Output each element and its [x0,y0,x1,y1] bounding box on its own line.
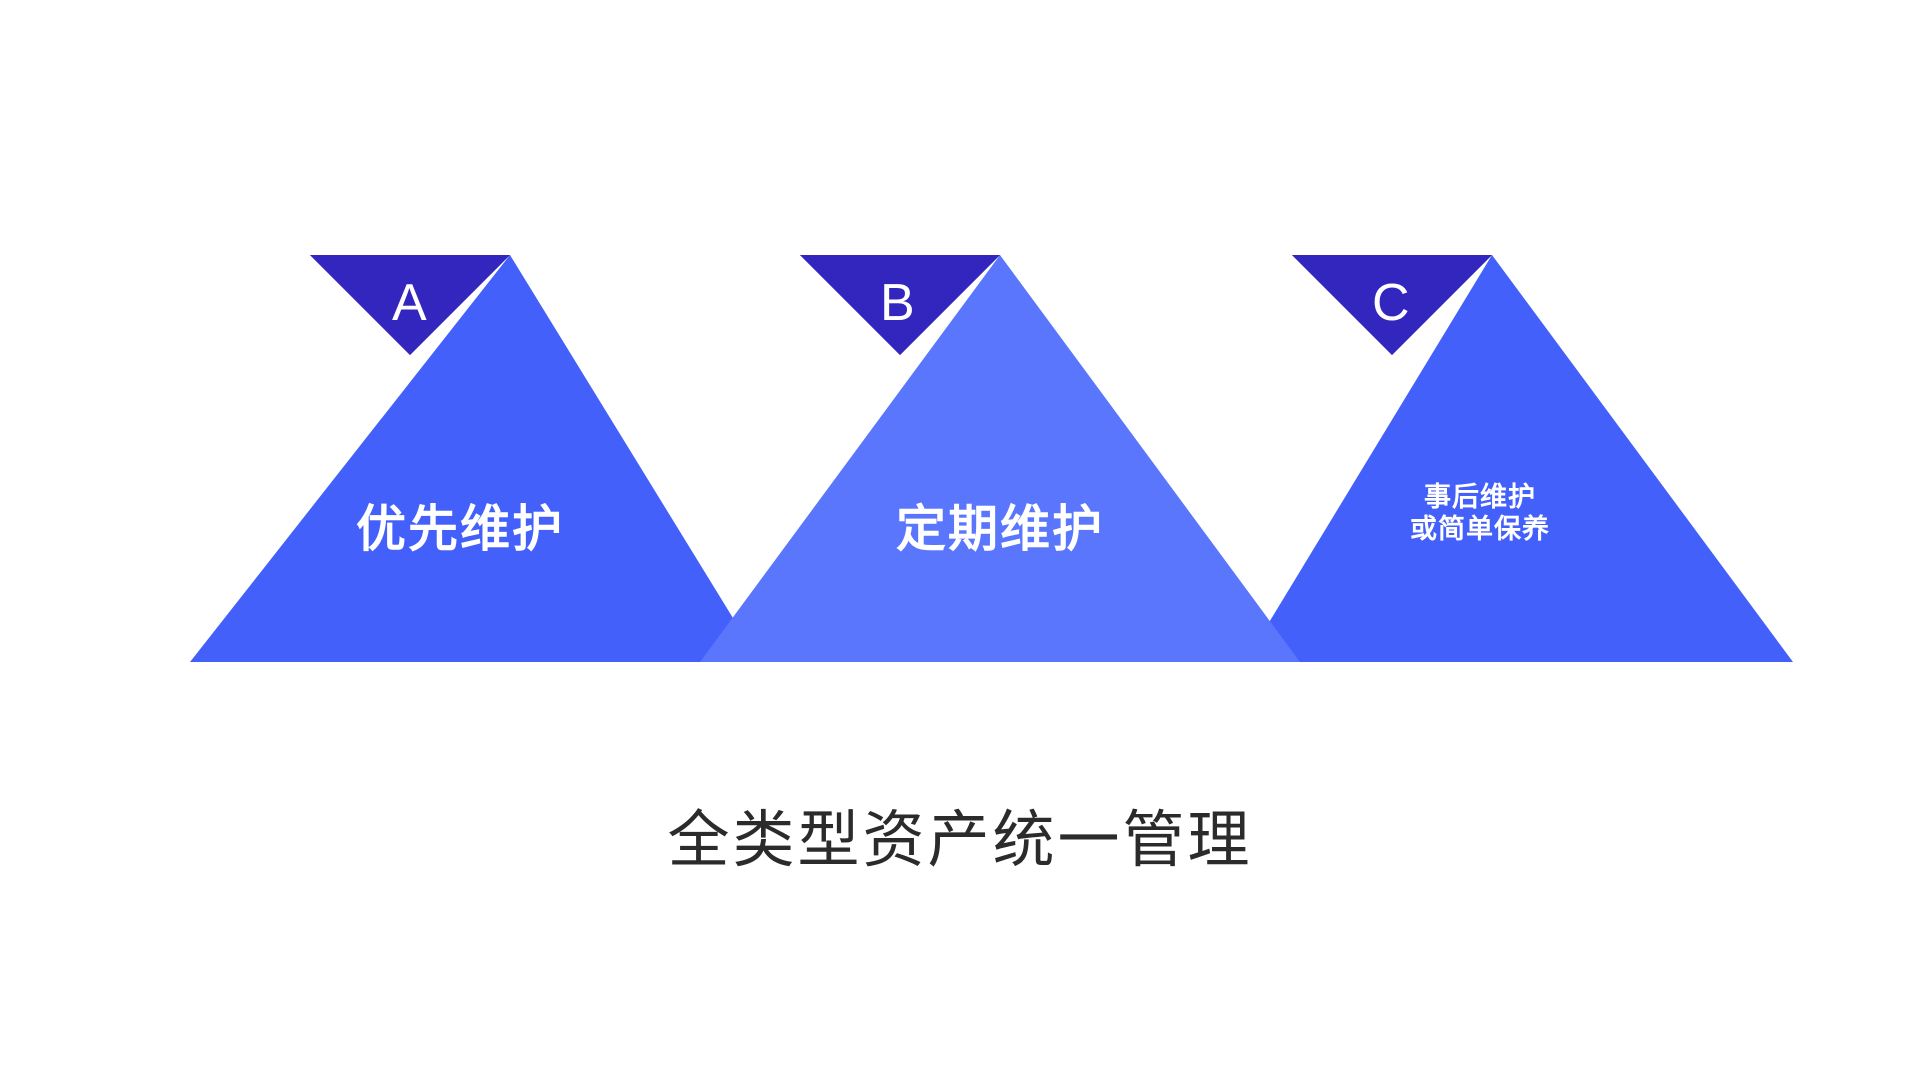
mountain-diagram: A B C 优先维护 定期维护 事后维护 或简单保养 全类型资产统一管理 [0,0,1920,1080]
marker-letter-b: B [880,277,915,329]
mountain-label-a-line-1: 优先维护 [250,500,670,559]
mountain-label-b: 定期维护 [790,500,1210,559]
marker-letter-c: C [1372,277,1410,329]
mountain-triangle-a[interactable] [190,255,760,662]
mountain-triangle-c[interactable] [1245,255,1793,662]
mountain-label-a: 优先维护 [250,500,670,559]
mountain-triangle-b[interactable] [700,255,1300,662]
mountain-label-c: 事后维护 或简单保养 [1330,482,1630,546]
mountain-label-b-line-1: 定期维护 [790,500,1210,559]
diagram-caption: 全类型资产统一管理 [0,806,1920,874]
mountain-label-c-line-1: 事后维护 [1330,482,1630,514]
marker-letter-a: A [392,277,427,329]
mountain-label-c-line-2: 或简单保养 [1330,514,1630,546]
